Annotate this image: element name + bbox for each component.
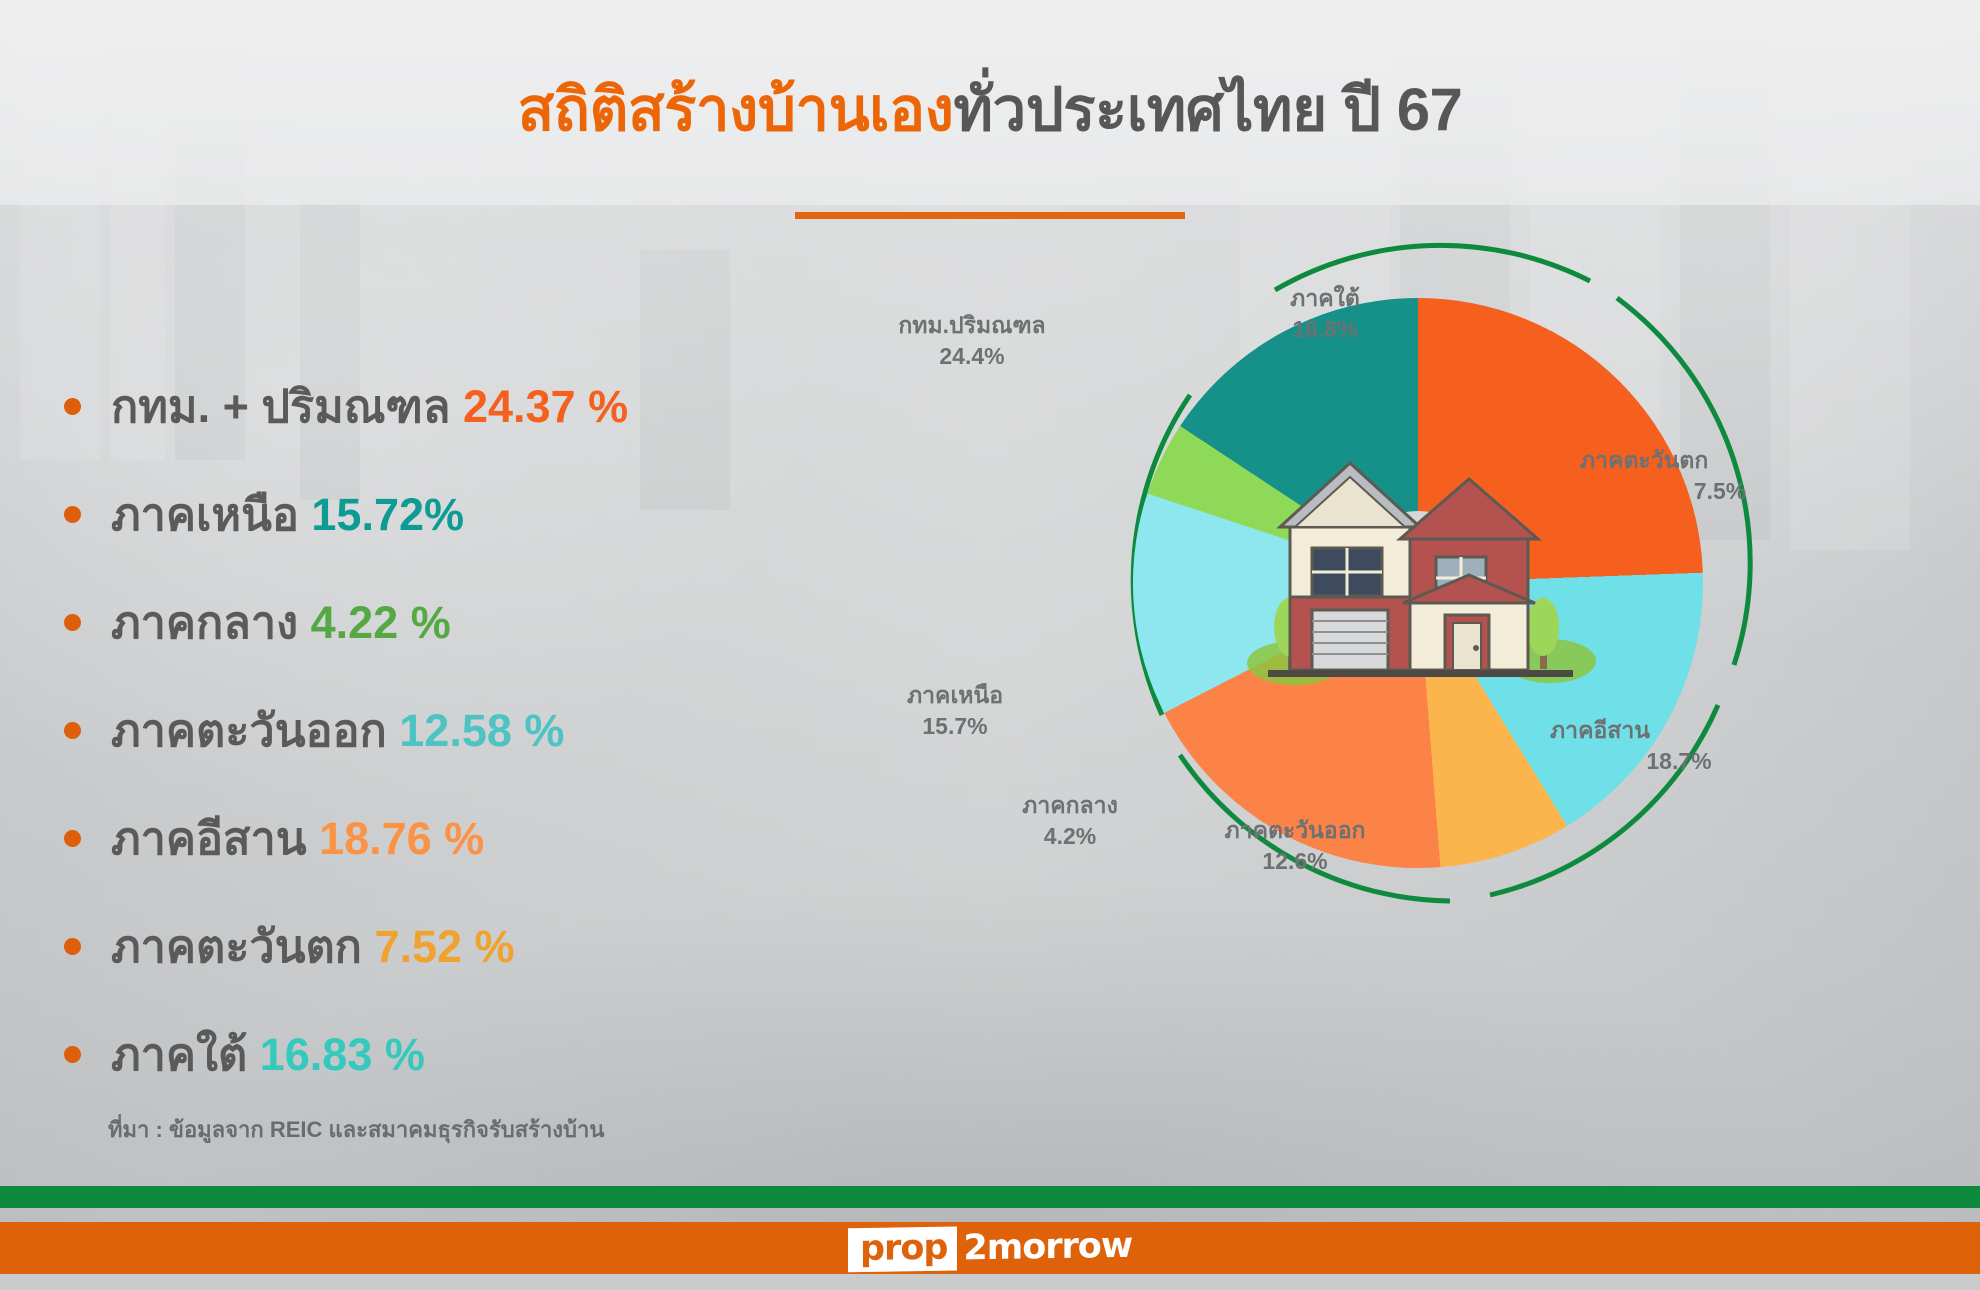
- chart-label-isan: ภาคอีสาน 18.7%: [1550, 715, 1830, 777]
- title-underline: [795, 212, 1185, 219]
- list-item-label: กทม. + ปริมณฑล: [111, 381, 450, 432]
- list-item: ภาคเหนือ 15.72%: [64, 478, 894, 550]
- house-illustration: [1240, 405, 1600, 705]
- list-item-value: 15.72%: [311, 489, 464, 540]
- bullet-icon: [64, 938, 81, 955]
- chart-label-west: ภาคตะวันตก 7.5%: [1580, 445, 1860, 507]
- chart-label-pct: 18.7%: [1528, 746, 1830, 777]
- bullet-icon: [64, 506, 81, 523]
- chart-label-name: ภาคใต้: [1185, 283, 1465, 314]
- chart-label-name: กทม.ปริมณฑล: [832, 310, 1112, 341]
- list-item-label: ภาคอีสาน: [111, 813, 307, 864]
- chart-label-bangkok: กทม.ปริมณฑล 24.4%: [832, 310, 1112, 372]
- list-item-value: 24.37 %: [463, 381, 628, 432]
- list-item: ภาคอีสาน 18.76 %: [64, 802, 894, 874]
- list-item: ภาคตะวันตก 7.52 %: [64, 910, 894, 982]
- list-item-label: ภาคกลาง: [111, 597, 298, 648]
- list-item-label: ภาคตะวันออก: [111, 705, 387, 756]
- list-item-text: ภาคอีสาน 18.76 %: [111, 802, 484, 874]
- list-item-value: 18.76 %: [319, 813, 484, 864]
- bullet-icon: [64, 1046, 81, 1063]
- bullet-icon: [64, 722, 81, 739]
- page-title: สถิติสร้างบ้านเองทั่วประเทศไทย ปี 67: [0, 78, 1980, 141]
- bullet-icon: [64, 830, 81, 847]
- list-item-value: 16.83 %: [260, 1029, 425, 1080]
- title-highlight: สถิติสร้างบ้านเอง: [518, 76, 954, 143]
- list-item-text: กทม. + ปริมณฑล 24.37 %: [111, 370, 628, 442]
- list-item-text: ภาคตะวันออก 12.58 %: [111, 694, 564, 766]
- chart-label-name: ภาคอีสาน: [1550, 715, 1830, 746]
- list-item-label: ภาคตะวันตก: [111, 921, 362, 972]
- list-item-text: ภาคเหนือ 15.72%: [111, 478, 464, 550]
- donut-chart: กทม.ปริมณฑล 24.4% ภาคใต้ 16.8% ภาคตะวันต…: [960, 225, 1960, 1145]
- chart-label-name: ภาคกลาง: [940, 790, 1200, 821]
- brand-logo[interactable]: prop 2morrow: [0, 1222, 1980, 1274]
- list-item: ภาคตะวันออก 12.58 %: [64, 694, 894, 766]
- bullet-icon: [64, 614, 81, 631]
- list-item: ภาคกลาง 4.22 %: [64, 586, 894, 658]
- source-note: ที่มา : ข้อมูลจาก REIC และสมาคมธุรกิจรับ…: [108, 1112, 604, 1147]
- chart-label-pct: 7.5%: [1580, 476, 1860, 507]
- title-rest: ทั่วประเทศไทย ปี 67: [953, 76, 1462, 143]
- footer-bottom-strip: [0, 1274, 1980, 1290]
- chart-label-name: ภาคตะวันตก: [1580, 445, 1860, 476]
- statistics-list: กทม. + ปริมณฑล 24.37 %ภาคเหนือ 15.72%ภาค…: [64, 370, 894, 1126]
- list-item-label: ภาคเหนือ: [111, 489, 299, 540]
- list-item-value: 7.52 %: [374, 921, 514, 972]
- chart-label-pct: 16.8%: [1185, 314, 1465, 345]
- list-item: กทม. + ปริมณฑล 24.37 %: [64, 370, 894, 442]
- bullet-icon: [64, 398, 81, 415]
- footer-green-bar: [0, 1186, 1980, 1208]
- list-item-value: 12.58 %: [399, 705, 564, 756]
- chart-label-south: ภาคใต้ 16.8%: [1185, 283, 1465, 345]
- logo-prop-text: prop: [848, 1227, 957, 1273]
- chart-label-central: ภาคกลาง 4.2%: [940, 790, 1200, 852]
- list-item-text: ภาคตะวันตก 7.52 %: [111, 910, 515, 982]
- list-item-text: ภาคกลาง 4.22 %: [111, 586, 451, 658]
- list-item-text: ภาคใต้ 16.83 %: [111, 1018, 425, 1090]
- list-item-value: 4.22 %: [311, 597, 451, 648]
- list-item: ภาคใต้ 16.83 %: [64, 1018, 894, 1090]
- logo-2morrow-text: 2morrow: [957, 1226, 1132, 1269]
- list-item-label: ภาคใต้: [111, 1029, 247, 1080]
- chart-label-pct: 24.4%: [832, 341, 1112, 372]
- chart-label-pct: 4.2%: [940, 821, 1200, 852]
